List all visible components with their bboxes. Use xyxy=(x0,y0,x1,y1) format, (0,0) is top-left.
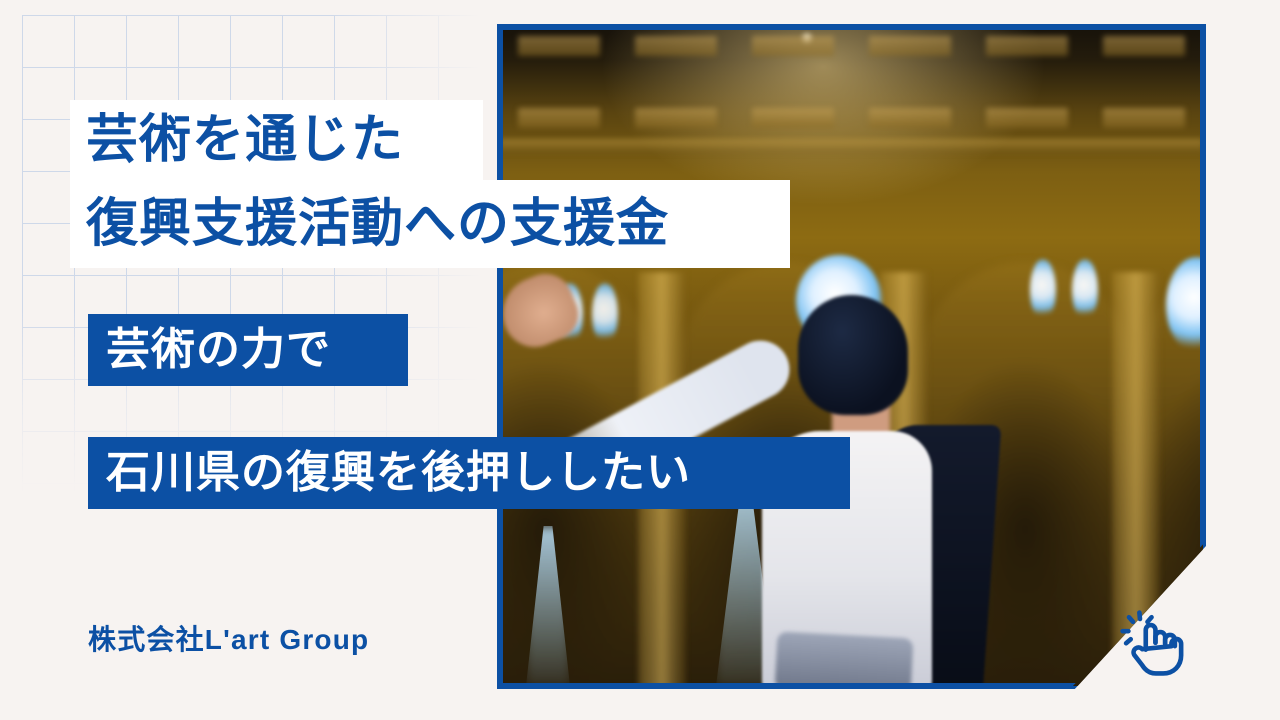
hero-photo-image xyxy=(500,27,1203,686)
headline-line-1: 芸術を通じた xyxy=(70,100,483,180)
subheadline-banner-1: 芸術の力で xyxy=(88,314,408,386)
dancer-figure xyxy=(500,27,1203,686)
dancer-sash xyxy=(775,631,914,686)
dancer-head xyxy=(798,295,908,415)
hero-photo xyxy=(497,24,1206,689)
slide-canvas: 芸術を通じた 復興支援活動への支援金 芸術の力で 石川県の復興を後押ししたい 株… xyxy=(0,0,1280,720)
tap-click-hand-icon xyxy=(1118,608,1192,682)
company-name: 株式会社L'art Group xyxy=(88,618,369,658)
subheadline-banner-2: 石川県の復興を後押ししたい xyxy=(88,437,850,509)
headline-line-2: 復興支援活動への支援金 xyxy=(70,180,790,268)
dancer-hand xyxy=(500,266,586,357)
